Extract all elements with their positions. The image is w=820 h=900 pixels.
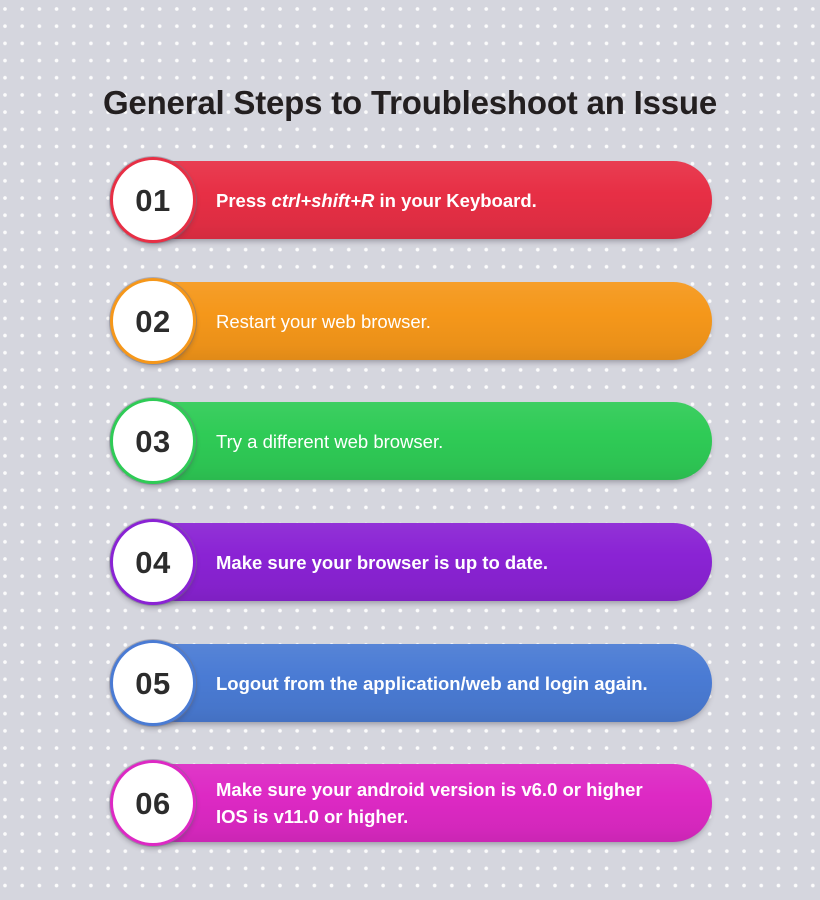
- step-number-label: 02: [135, 306, 170, 337]
- step-row: 05 Logout from the application/web and l…: [110, 637, 712, 729]
- step-text-emphasis: ctrl+shift+R: [272, 190, 375, 211]
- step-text-line: IOS is v11.0 or higher.: [216, 803, 696, 830]
- step-text: Logout from the application/web and logi…: [216, 637, 696, 729]
- step-row: 03 Try a different web browser.: [110, 395, 712, 487]
- step-number-label: 03: [135, 426, 170, 457]
- step-number-badge: 01: [110, 157, 196, 243]
- step-text: Make sure your android version is v6.0 o…: [216, 757, 696, 849]
- step-number-label: 01: [135, 185, 170, 216]
- step-text: Make sure your browser is up to date.: [216, 516, 696, 608]
- infographic-canvas: General Steps to Troubleshoot an Issue 0…: [0, 0, 820, 900]
- step-row: 02 Restart your web browser.: [110, 275, 712, 367]
- step-number-badge: 03: [110, 398, 196, 484]
- page-title: General Steps to Troubleshoot an Issue: [0, 81, 820, 125]
- step-text-line: Try a different web browser.: [216, 428, 696, 455]
- step-text-line: Make sure your android version is v6.0 o…: [216, 776, 696, 803]
- step-number-badge: 02: [110, 278, 196, 364]
- step-number-label: 06: [135, 788, 170, 819]
- step-number-badge: 05: [110, 640, 196, 726]
- step-row: 01 Press ctrl+shift+R in your Keyboard.: [110, 154, 712, 246]
- step-number-label: 04: [135, 547, 170, 578]
- step-number-badge: 06: [110, 760, 196, 846]
- step-row: 06 Make sure your android version is v6.…: [110, 757, 712, 849]
- step-text: Try a different web browser.: [216, 395, 696, 487]
- step-row: 04 Make sure your browser is up to date.: [110, 516, 712, 608]
- step-text-line: Restart your web browser.: [216, 308, 696, 335]
- step-text-line: Logout from the application/web and logi…: [216, 670, 696, 697]
- step-number-label: 05: [135, 668, 170, 699]
- step-text: Restart your web browser.: [216, 275, 696, 367]
- step-number-badge: 04: [110, 519, 196, 605]
- step-text: Press ctrl+shift+R in your Keyboard.: [216, 154, 696, 246]
- step-text-line: Make sure your browser is up to date.: [216, 549, 696, 576]
- step-text-line: Press ctrl+shift+R in your Keyboard.: [216, 187, 696, 214]
